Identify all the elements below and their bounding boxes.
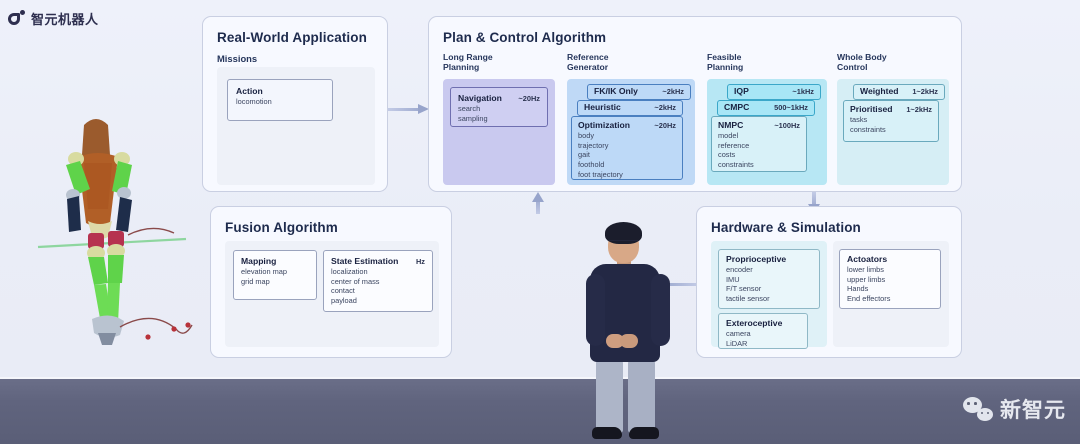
card-navigation[interactable]: Navigation ~20Hz searchsampling xyxy=(450,87,548,127)
card-exteroceptive-name: Exteroceptive xyxy=(726,318,782,328)
brand-logo: 智元机器人 xyxy=(8,9,99,28)
column-label-long-range-planning: Long Range Planning xyxy=(443,52,493,72)
card-optimization-bullets: bodytrajectorygaitfootholdfoot trajector… xyxy=(578,131,676,179)
watermark-text: 新智元 xyxy=(1000,394,1066,424)
card-weighted[interactable]: Weighted 1~2kHz xyxy=(853,84,945,100)
presenter-hand-right xyxy=(620,334,638,348)
card-fk-ik-only-hz: ~2kHz xyxy=(662,87,684,96)
presenter xyxy=(574,218,680,444)
arrow-realworld-to-plan xyxy=(388,104,430,114)
card-state-estimation[interactable]: State Estimation Hz localizationcenter o… xyxy=(323,250,433,312)
card-iqp[interactable]: IQP ~1kHz xyxy=(727,84,821,100)
panel-plan-control-algorithm: Plan & Control Algorithm Long Range Plan… xyxy=(428,16,962,192)
card-prioritised-name: Prioritised xyxy=(850,104,893,114)
card-action[interactable]: Action locomotion xyxy=(227,79,333,121)
card-heuristic-hz: ~2kHz xyxy=(654,103,676,112)
card-iqp-name: IQP xyxy=(734,86,749,96)
wechat-icon xyxy=(963,397,993,421)
brand-logo-text: 智元机器人 xyxy=(31,9,99,28)
card-state-estimation-bullets: localizationcenter of masscontactpayload xyxy=(331,267,425,306)
card-prioritised[interactable]: Prioritised 1~2kHz tasksconstraints xyxy=(843,100,939,142)
panel-title-fusion: Fusion Algorithm xyxy=(225,220,338,235)
card-state-estimation-name: State Estimation xyxy=(331,256,398,266)
robot-svg xyxy=(36,95,206,345)
card-cmpc-name: CMPC xyxy=(724,102,749,112)
section-label-missions: Missions xyxy=(217,53,257,64)
card-optimization[interactable]: Optimization ~20Hz bodytrajectorygaitfoo… xyxy=(571,116,683,180)
card-fk-ik-only-name: FK/IK Only xyxy=(594,86,638,96)
card-proprioceptive-name: Proprioceptive xyxy=(726,254,786,264)
card-heuristic[interactable]: Heuristic ~2kHz xyxy=(577,100,683,116)
agibot-mark-icon xyxy=(8,10,25,27)
panel-real-world-application: Real-World Application Missions Action l… xyxy=(202,16,388,192)
card-actoators-name: Actoators xyxy=(847,254,887,264)
card-mapping[interactable]: Mapping elevation mapgrid map xyxy=(233,250,317,300)
panel-fusion-algorithm: Fusion Algorithm Mapping elevation mapgr… xyxy=(210,206,452,358)
card-nmpc-bullets: modelreferencecostsconstraints xyxy=(718,131,800,170)
card-proprioceptive-bullets: encoderIMUF/T sensortactile sensor xyxy=(726,265,812,304)
card-cmpc-hz: 500~1kHz xyxy=(774,103,808,112)
card-prioritised-bullets: tasksconstraints xyxy=(850,115,932,134)
card-prioritised-hz: 1~2kHz xyxy=(906,105,932,114)
card-fk-ik-only[interactable]: FK/IK Only ~2kHz xyxy=(587,84,691,100)
panel-title-plan-control: Plan & Control Algorithm xyxy=(443,30,606,45)
stage-floor xyxy=(0,379,1080,444)
panel-hardware-simulation: Hardware & Simulation Proprioceptive enc… xyxy=(696,206,962,358)
card-navigation-bullets: searchsampling xyxy=(458,104,540,123)
presenter-arm-left xyxy=(586,274,605,346)
presenter-shoe-left xyxy=(592,427,622,439)
card-cmpc[interactable]: CMPC 500~1kHz xyxy=(717,100,815,116)
panel-title-hardware: Hardware & Simulation xyxy=(711,220,861,235)
humanoid-robot-visualization xyxy=(36,95,206,345)
card-action-name: Action xyxy=(236,86,263,96)
panel-title-real-world: Real-World Application xyxy=(217,30,367,45)
card-mapping-name: Mapping xyxy=(241,256,276,266)
presenter-leg-left xyxy=(596,358,623,433)
card-heuristic-name: Heuristic xyxy=(584,102,621,112)
column-label-whole-body-control: Whole Body Control xyxy=(837,52,887,72)
card-nmpc-name: NMPC xyxy=(718,120,743,130)
presenter-leg-right xyxy=(628,358,655,433)
card-actoators-bullets: lower limbsupper limbsHandsEnd effectors xyxy=(847,265,933,304)
card-proprioceptive[interactable]: Proprioceptive encoderIMUF/T sensortacti… xyxy=(718,249,820,309)
card-nmpc[interactable]: NMPC ~100Hz modelreferencecostsconstrain… xyxy=(711,116,807,172)
card-exteroceptive-bullets: cameraLiDAR xyxy=(726,329,800,348)
card-weighted-hz: 1~2kHz xyxy=(912,87,938,96)
card-mapping-bullets: elevation mapgrid map xyxy=(241,267,309,286)
wechat-watermark: 新智元 xyxy=(963,394,1066,424)
column-label-feasible-planning: Feasible Planning xyxy=(707,52,743,72)
card-nmpc-hz: ~100Hz xyxy=(774,121,800,130)
card-action-bullets: locomotion xyxy=(236,97,324,107)
presenter-shoe-right xyxy=(629,427,659,439)
card-actoators[interactable]: Actoators lower limbsupper limbsHandsEnd… xyxy=(839,249,941,309)
card-optimization-name: Optimization xyxy=(578,120,630,130)
presenter-glasses xyxy=(608,240,638,246)
card-navigation-hz: ~20Hz xyxy=(518,94,540,103)
card-exteroceptive[interactable]: Exteroceptive cameraLiDAR xyxy=(718,313,808,349)
column-label-reference-generator: Reference Generator xyxy=(567,52,609,72)
arrow-fusion-to-plan xyxy=(532,192,544,214)
card-weighted-name: Weighted xyxy=(860,86,899,96)
presenter-arm-right xyxy=(651,274,670,346)
card-navigation-name: Navigation xyxy=(458,93,502,103)
card-state-estimation-hz: Hz xyxy=(416,257,425,266)
card-iqp-hz: ~1kHz xyxy=(792,87,814,96)
card-optimization-hz: ~20Hz xyxy=(654,121,676,130)
